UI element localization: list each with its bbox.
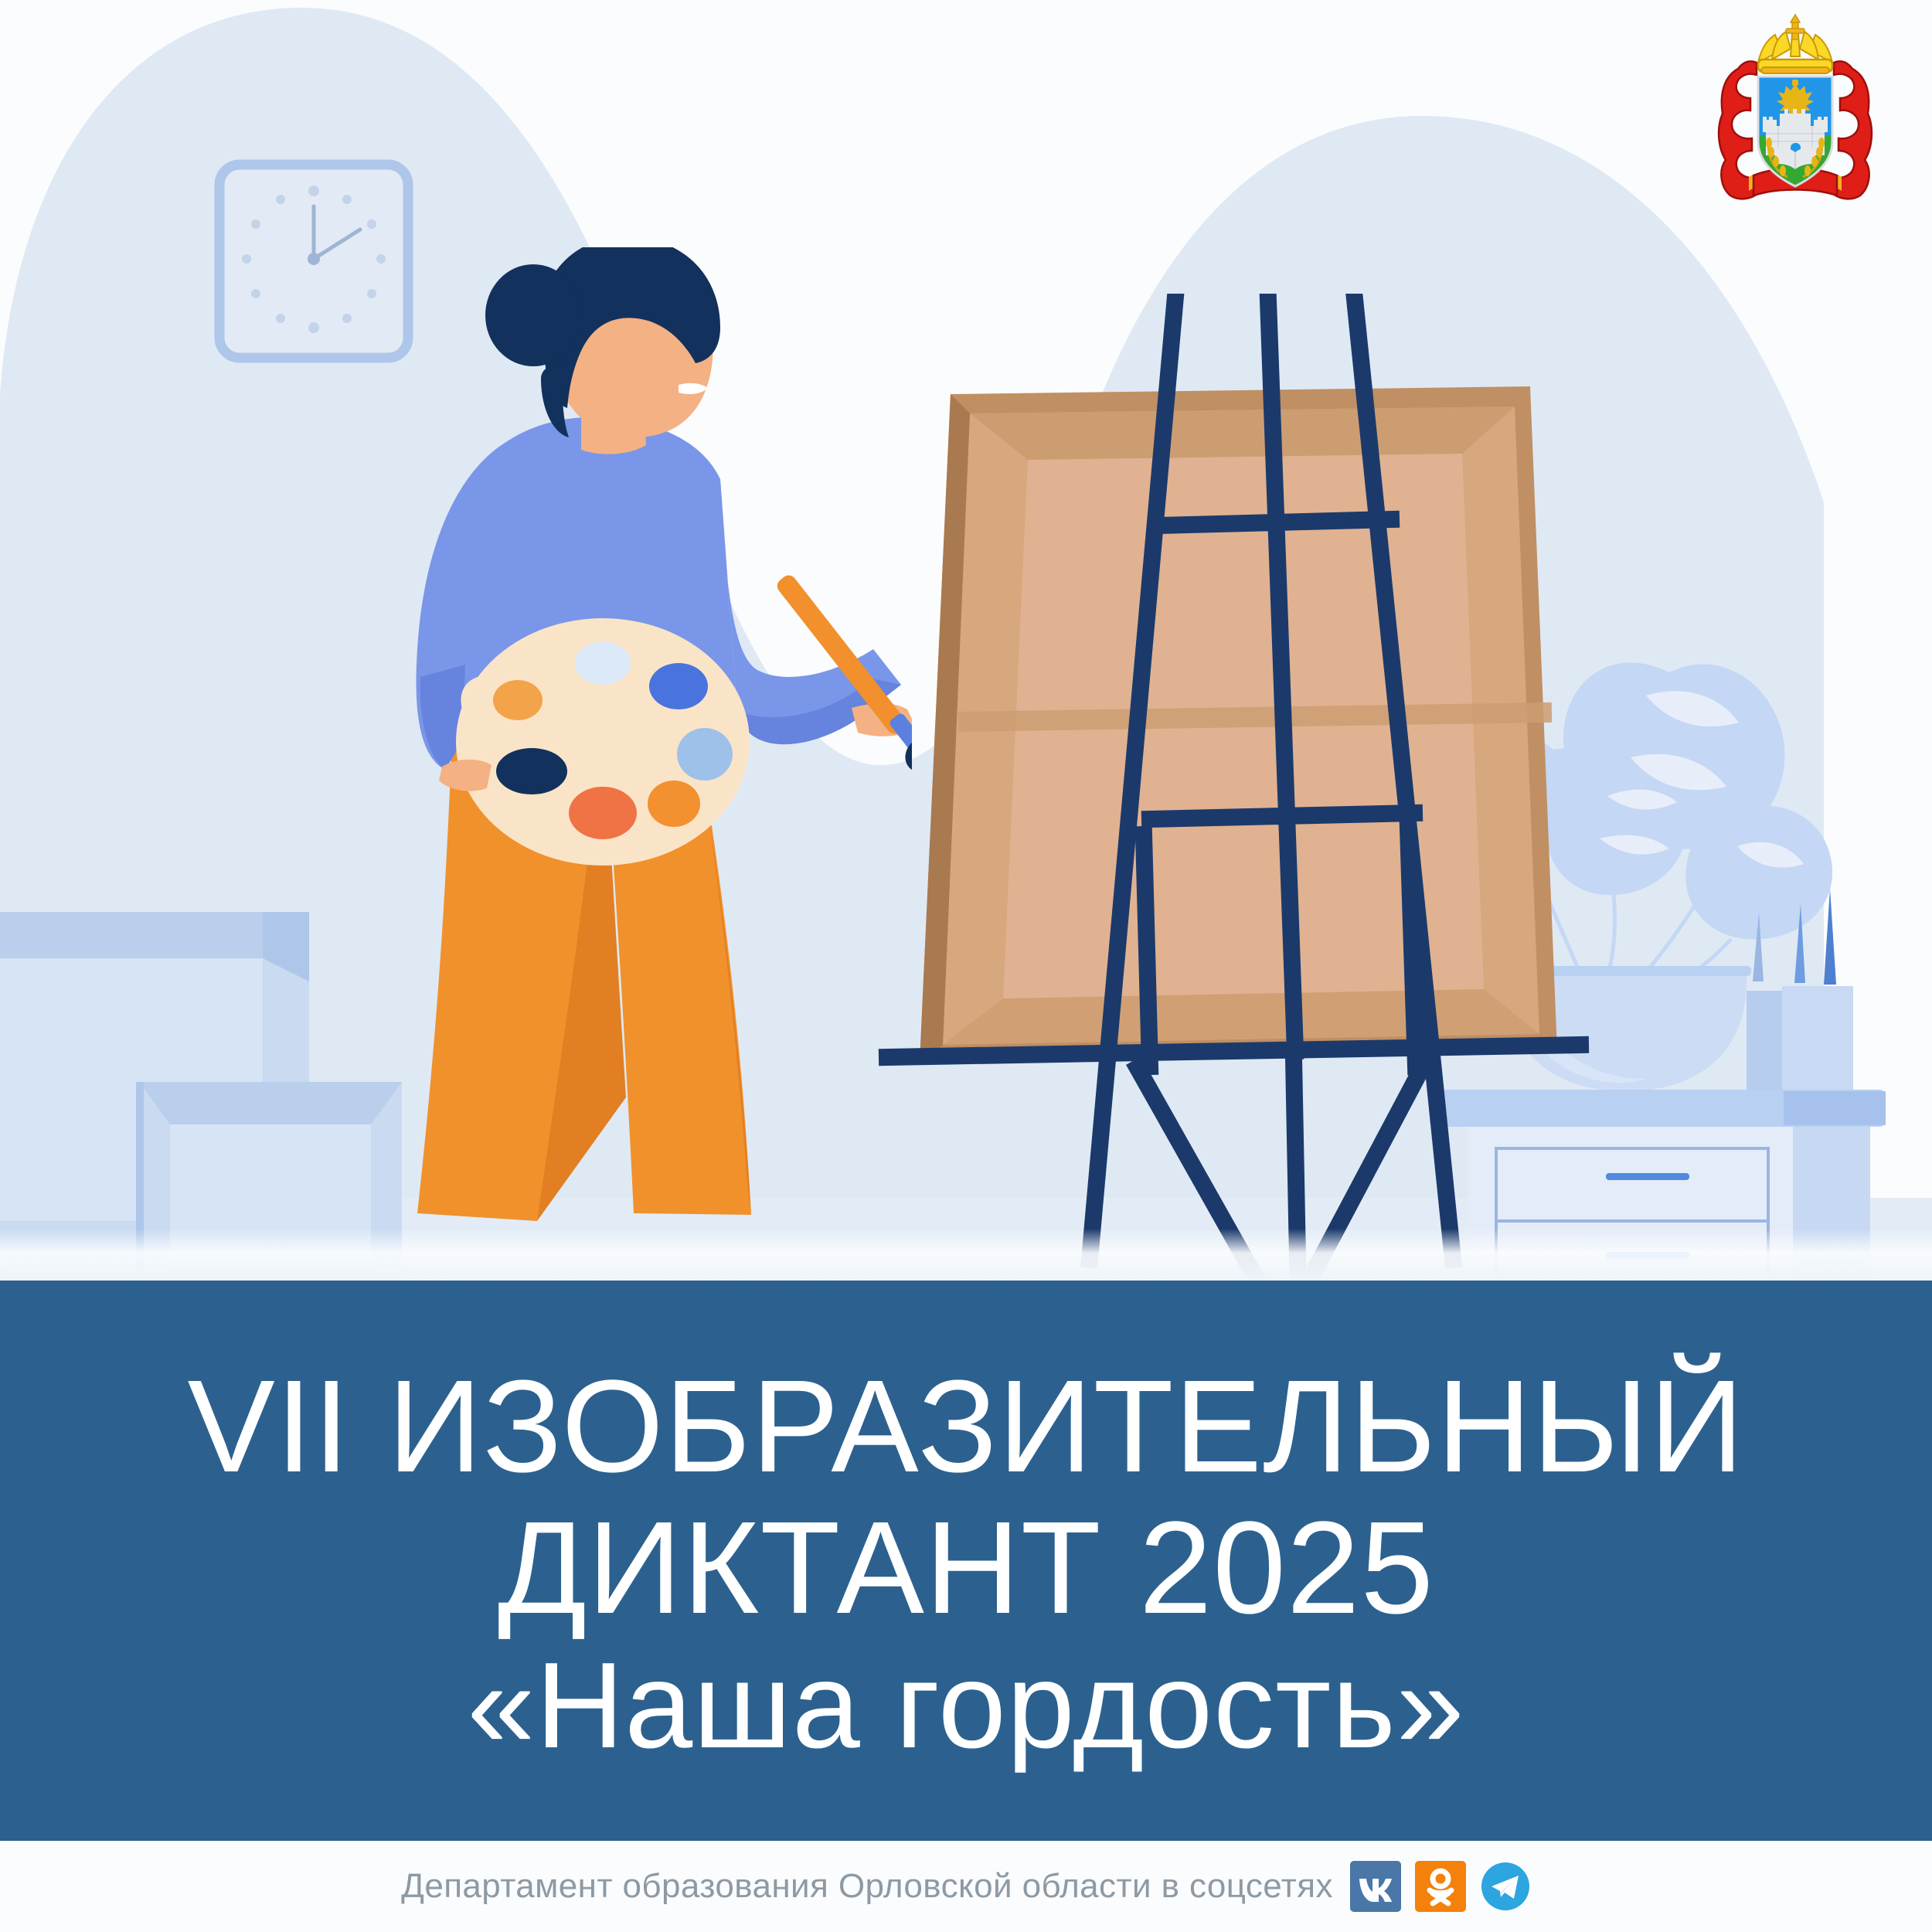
telegram-icon[interactable] (1480, 1861, 1531, 1912)
social-links (1350, 1861, 1531, 1912)
oryol-coat-of-arms (1710, 12, 1880, 213)
footer-caption: Департамент образования Орловской област… (401, 1867, 1333, 1906)
canvas (920, 386, 1557, 1063)
illustration-scene (0, 0, 1932, 1314)
palette (456, 618, 750, 866)
head (485, 247, 720, 454)
artist-figure (371, 247, 912, 1298)
shield (1758, 77, 1832, 186)
title-line-3: «Наша гордость» (467, 1640, 1464, 1772)
title-banner: VII ИЗОБРАЗИТЕЛЬНЫЙ ДИКТАНТ 2025 «Наша г… (0, 1281, 1932, 1841)
crown (1758, 15, 1832, 73)
vk-icon[interactable] (1350, 1861, 1401, 1912)
title-line-2: ДИКТАНТ 2025 (498, 1498, 1434, 1640)
title-line-1: VII ИЗОБРАЗИТЕЛЬНЫЙ (187, 1356, 1744, 1498)
floor-fade (0, 1229, 1932, 1283)
easel-with-canvas (835, 294, 1615, 1298)
footer-bar: Департамент образования Орловской област… (0, 1841, 1932, 1932)
poster-root: VII ИЗОБРАЗИТЕЛЬНЫЙ ДИКТАНТ 2025 «Наша г… (0, 0, 1932, 1932)
ok-icon[interactable] (1415, 1861, 1466, 1912)
